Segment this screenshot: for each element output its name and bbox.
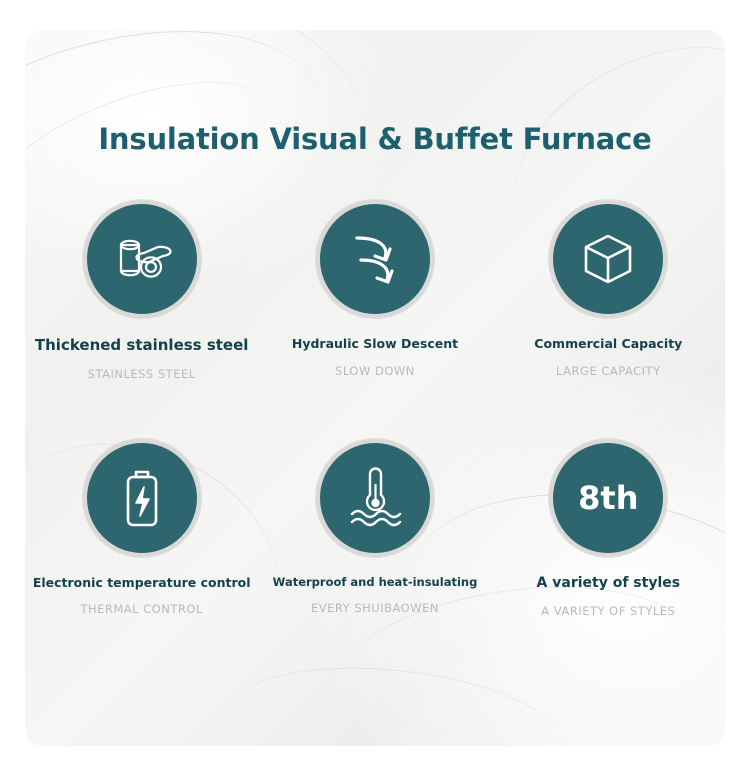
feature-icon-circle: 8th: [549, 439, 667, 557]
slow-descent-arrow-icon: [345, 230, 405, 288]
feature-label: Thickened stainless steel: [35, 336, 249, 355]
feature-card: Insulation Visual & Buffet Furnace: [25, 30, 725, 746]
feature-subtitle: SLOW DOWN: [335, 364, 415, 378]
feature-icon-circle: [83, 200, 201, 318]
feature-row-2: Electronic temperature control THERMAL C…: [25, 439, 725, 619]
feature-label: Electronic temperature control: [33, 575, 251, 591]
feature-icon-circle: [316, 439, 434, 557]
feature-icon-circle: [316, 200, 434, 318]
feature-item-stainless-steel: Thickened stainless steel STAINLESS STEE…: [25, 200, 258, 381]
feature-item-waterproof: Waterproof and heat-insulating EVERY SHU…: [258, 439, 491, 619]
feature-item-capacity: Commercial Capacity LARGE CAPACITY: [492, 200, 725, 381]
feature-item-thermal-control: Electronic temperature control THERMAL C…: [25, 439, 258, 619]
feature-grid: Thickened stainless steel STAINLESS STEE…: [25, 200, 725, 618]
feature-label: Hydraulic Slow Descent: [292, 336, 458, 352]
feature-row-1: Thickened stainless steel STAINLESS STEE…: [25, 200, 725, 381]
feature-subtitle: STAINLESS STEEL: [88, 367, 196, 381]
feature-subtitle: THERMAL CONTROL: [80, 602, 202, 616]
stainless-steel-cylinders-icon: [111, 231, 173, 287]
page-title: Insulation Visual & Buffet Furnace: [25, 122, 725, 156]
feature-label: Commercial Capacity: [534, 336, 682, 352]
battery-bolt-icon: [116, 467, 168, 529]
feature-item-slow-descent: Hydraulic Slow Descent SLOW DOWN: [258, 200, 491, 381]
feature-icon-circle: [83, 439, 201, 557]
feature-subtitle: LARGE CAPACITY: [556, 364, 661, 378]
eighth-style-text-icon: 8th: [578, 479, 638, 517]
feature-item-styles: 8th A variety of styles A VARIETY OF STY…: [492, 439, 725, 619]
feature-label: A variety of styles: [537, 575, 681, 593]
feature-subtitle: EVERY SHUIBAOWEN: [311, 601, 439, 615]
feature-label: Waterproof and heat-insulating: [273, 575, 478, 589]
thermometer-water-icon: [344, 466, 406, 530]
feature-icon-circle: [549, 200, 667, 318]
cube-capacity-icon: [579, 230, 637, 288]
marble-vein: [220, 653, 571, 746]
feature-subtitle: A VARIETY OF STYLES: [541, 604, 675, 618]
